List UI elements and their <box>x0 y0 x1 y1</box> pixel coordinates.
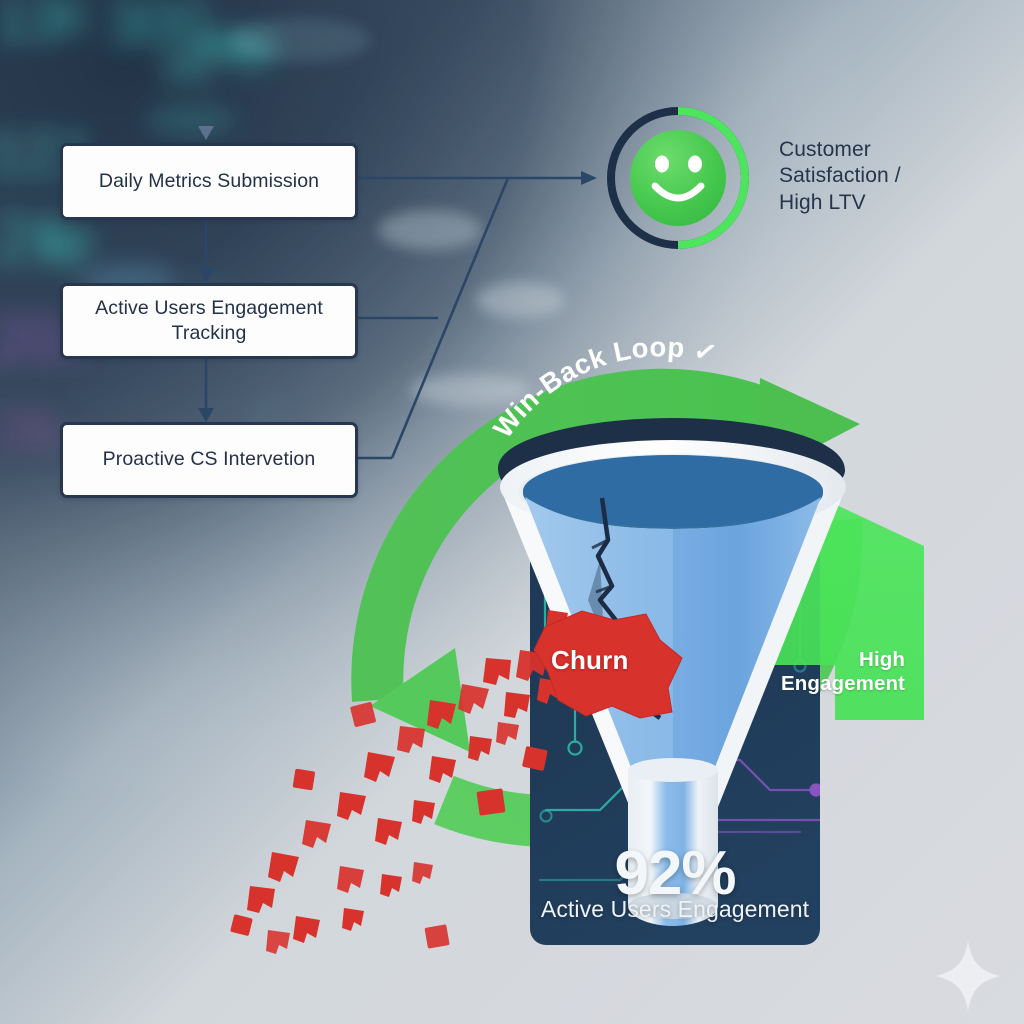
sparkle-icon <box>936 941 1000 1011</box>
infographic-canvas: 13 6 300 36 12 — 121 21 4 20 1 26 3 — 24… <box>0 0 1024 1024</box>
sparkle-decor <box>0 0 1024 1024</box>
